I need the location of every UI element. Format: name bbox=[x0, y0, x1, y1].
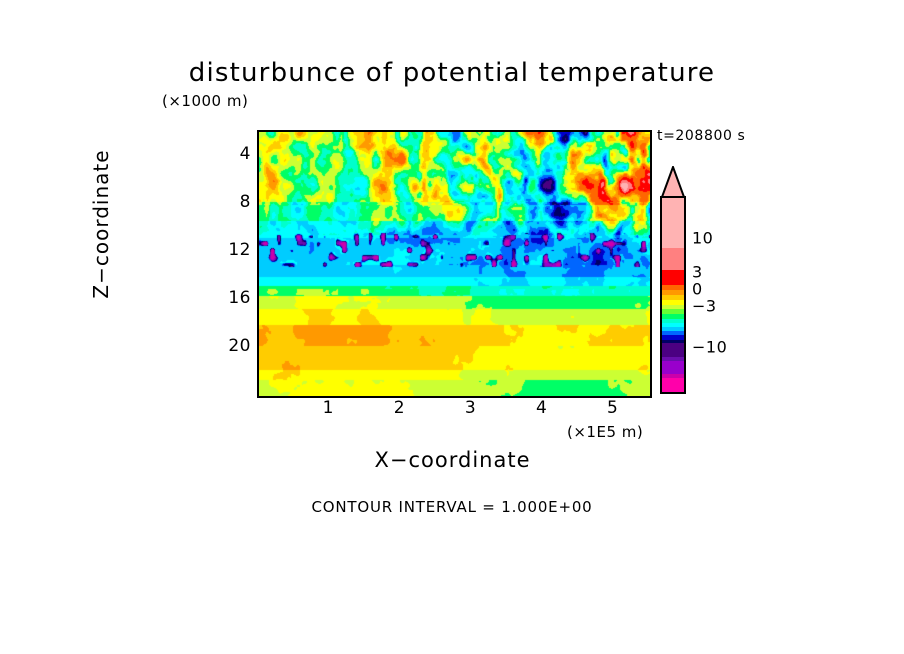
contour-field-canvas bbox=[259, 132, 650, 396]
y-axis-ticks: 20161284 bbox=[205, 130, 251, 394]
colorbar-segment bbox=[662, 198, 684, 225]
colorbar-tick-label: 10 bbox=[692, 229, 713, 248]
y-tick-label: 20 bbox=[211, 336, 251, 356]
colorbar-segment bbox=[662, 225, 684, 248]
colorbar-segment bbox=[662, 386, 684, 392]
colorbar-tick-label: −3 bbox=[692, 297, 717, 316]
x-tick-label: 4 bbox=[521, 398, 561, 418]
x-unit-label: (×1E5 m) bbox=[567, 423, 643, 441]
colorbar-segment bbox=[662, 248, 684, 269]
colorbar-tick-label: −10 bbox=[692, 338, 727, 357]
x-tick-label: 3 bbox=[450, 398, 490, 418]
z-unit-label: (×1000 m) bbox=[162, 92, 248, 110]
x-tick-label: 2 bbox=[379, 398, 419, 418]
colorbar-arrow-icon bbox=[660, 166, 686, 198]
time-label: t=208800 s bbox=[657, 128, 745, 144]
colorbar-segment bbox=[662, 361, 684, 375]
y-tick-label: 4 bbox=[211, 144, 251, 164]
figure-root: disturbunce of potential temperature (×1… bbox=[0, 0, 904, 654]
y-tick-label: 8 bbox=[211, 192, 251, 212]
colorbar-segment bbox=[662, 270, 684, 286]
colorbar-segment bbox=[662, 378, 684, 386]
x-axis-ticks: 12345 bbox=[257, 398, 648, 422]
x-tick-label: 1 bbox=[308, 398, 348, 418]
x-tick-label: 5 bbox=[592, 398, 632, 418]
page-title: disturbunce of potential temperature bbox=[0, 58, 904, 88]
contour-plot-area bbox=[257, 130, 652, 398]
x-axis-title: X−coordinate bbox=[257, 448, 648, 472]
y-tick-label: 12 bbox=[211, 240, 251, 260]
y-tick-label: 16 bbox=[211, 288, 251, 308]
y-axis-title: Z−coordinate bbox=[89, 114, 113, 334]
colorbar-gradient bbox=[660, 196, 686, 394]
colorbar-segment bbox=[662, 343, 684, 357]
colorbar: 1030−3−10 bbox=[660, 166, 780, 398]
contour-interval-caption: CONTOUR INTERVAL = 1.000E+00 bbox=[0, 498, 904, 516]
